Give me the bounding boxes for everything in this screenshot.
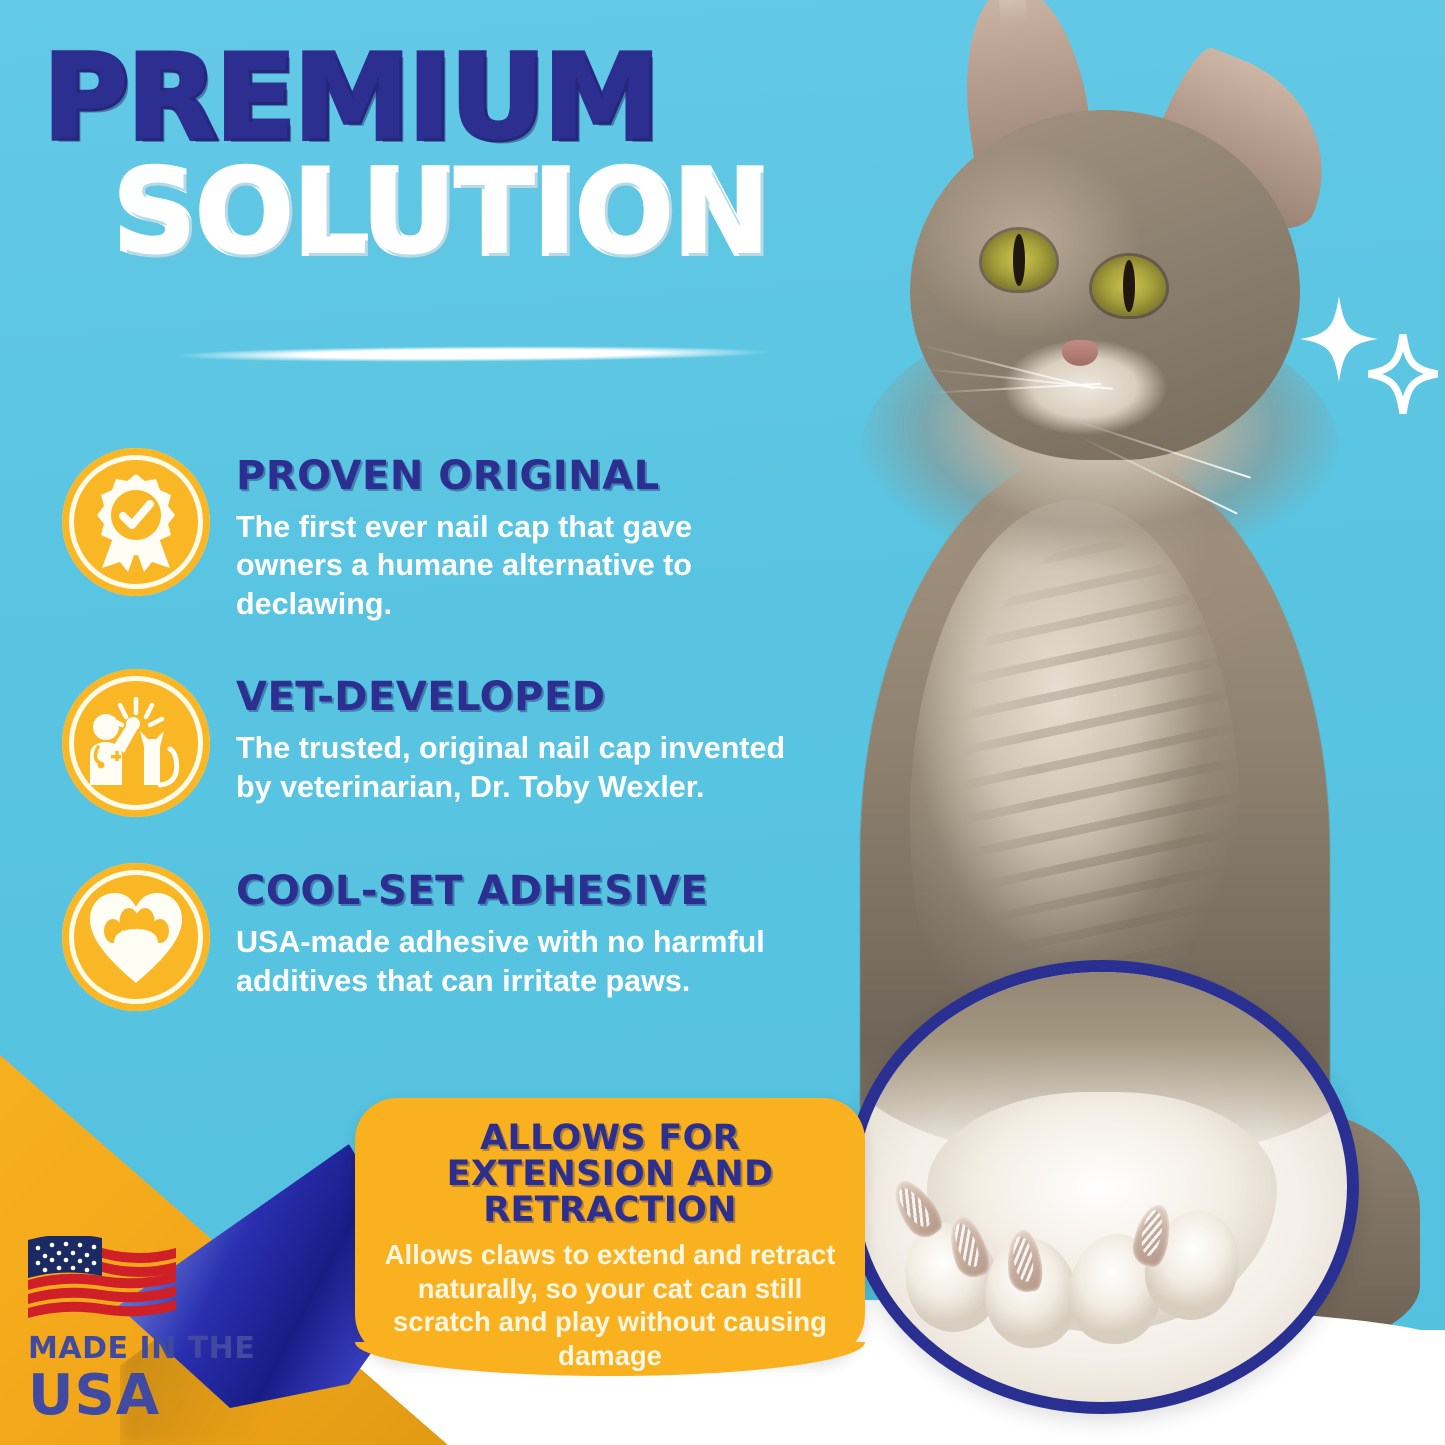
award-ribbon-check-icon [62, 448, 210, 596]
feature-text: VET-DEVELOPED The trusted, original nail… [236, 669, 806, 806]
headline-line-2: SOLUTION [114, 159, 804, 269]
feature-description: The trusted, original nail cap invented … [236, 729, 806, 806]
feature-list: PROVEN ORIGINAL The first ever nail cap … [62, 448, 822, 1057]
feature-text: PROVEN ORIGINAL The first ever nail cap … [236, 448, 806, 623]
usa-badge-line-1: MADE IN THE [28, 1334, 268, 1364]
heart-paw-icon [62, 863, 210, 1011]
callout-title: ALLOWS FOR EXTENSION AND RETRACTION [381, 1120, 839, 1228]
usa-badge-line-2: USA [28, 1368, 268, 1424]
feature-title: COOL-SET ADHESIVE [236, 871, 806, 911]
feature-item-vet-developed: VET-DEVELOPED The trusted, original nail… [62, 669, 822, 817]
brush-stroke-underline [172, 345, 772, 364]
sparkle-star-solid-icon [1300, 296, 1378, 382]
page-title: PREMIUM SOLUTION [44, 46, 804, 269]
usa-flag-icon [28, 1236, 176, 1322]
feature-title: VET-DEVELOPED [236, 677, 806, 717]
callout-description: Allows claws to extend and retract natur… [381, 1238, 839, 1372]
product-infographic: PREMIUM SOLUTION PROVEN ORIGINAL The fir… [0, 0, 1445, 1445]
cat-whiskers [920, 310, 1200, 460]
feature-item-proven-original: PROVEN ORIGINAL The first ever nail cap … [62, 448, 822, 623]
feature-text: COOL-SET ADHESIVE USA-made adhesive with… [236, 863, 806, 1000]
sparkle-star-outline-icon [1368, 334, 1438, 414]
feature-item-cool-set-adhesive: COOL-SET ADHESIVE USA-made adhesive with… [62, 863, 822, 1011]
vet-high-five-cat-icon [62, 669, 210, 817]
feature-title: PROVEN ORIGINAL [236, 456, 806, 496]
cat-eye-right [1092, 256, 1166, 316]
feature-description: USA-made adhesive with no harmful additi… [236, 923, 806, 1000]
feature-description: The first ever nail cap that gave owners… [236, 508, 806, 623]
made-in-usa-badge: MADE IN THE USA [28, 1236, 268, 1424]
paw-closeup-inset [845, 960, 1359, 1414]
headline-line-1: PREMIUM [44, 46, 804, 153]
extension-retraction-callout: ALLOWS FOR EXTENSION AND RETRACTION Allo… [355, 1098, 865, 1360]
cat-eye-left [982, 230, 1056, 290]
